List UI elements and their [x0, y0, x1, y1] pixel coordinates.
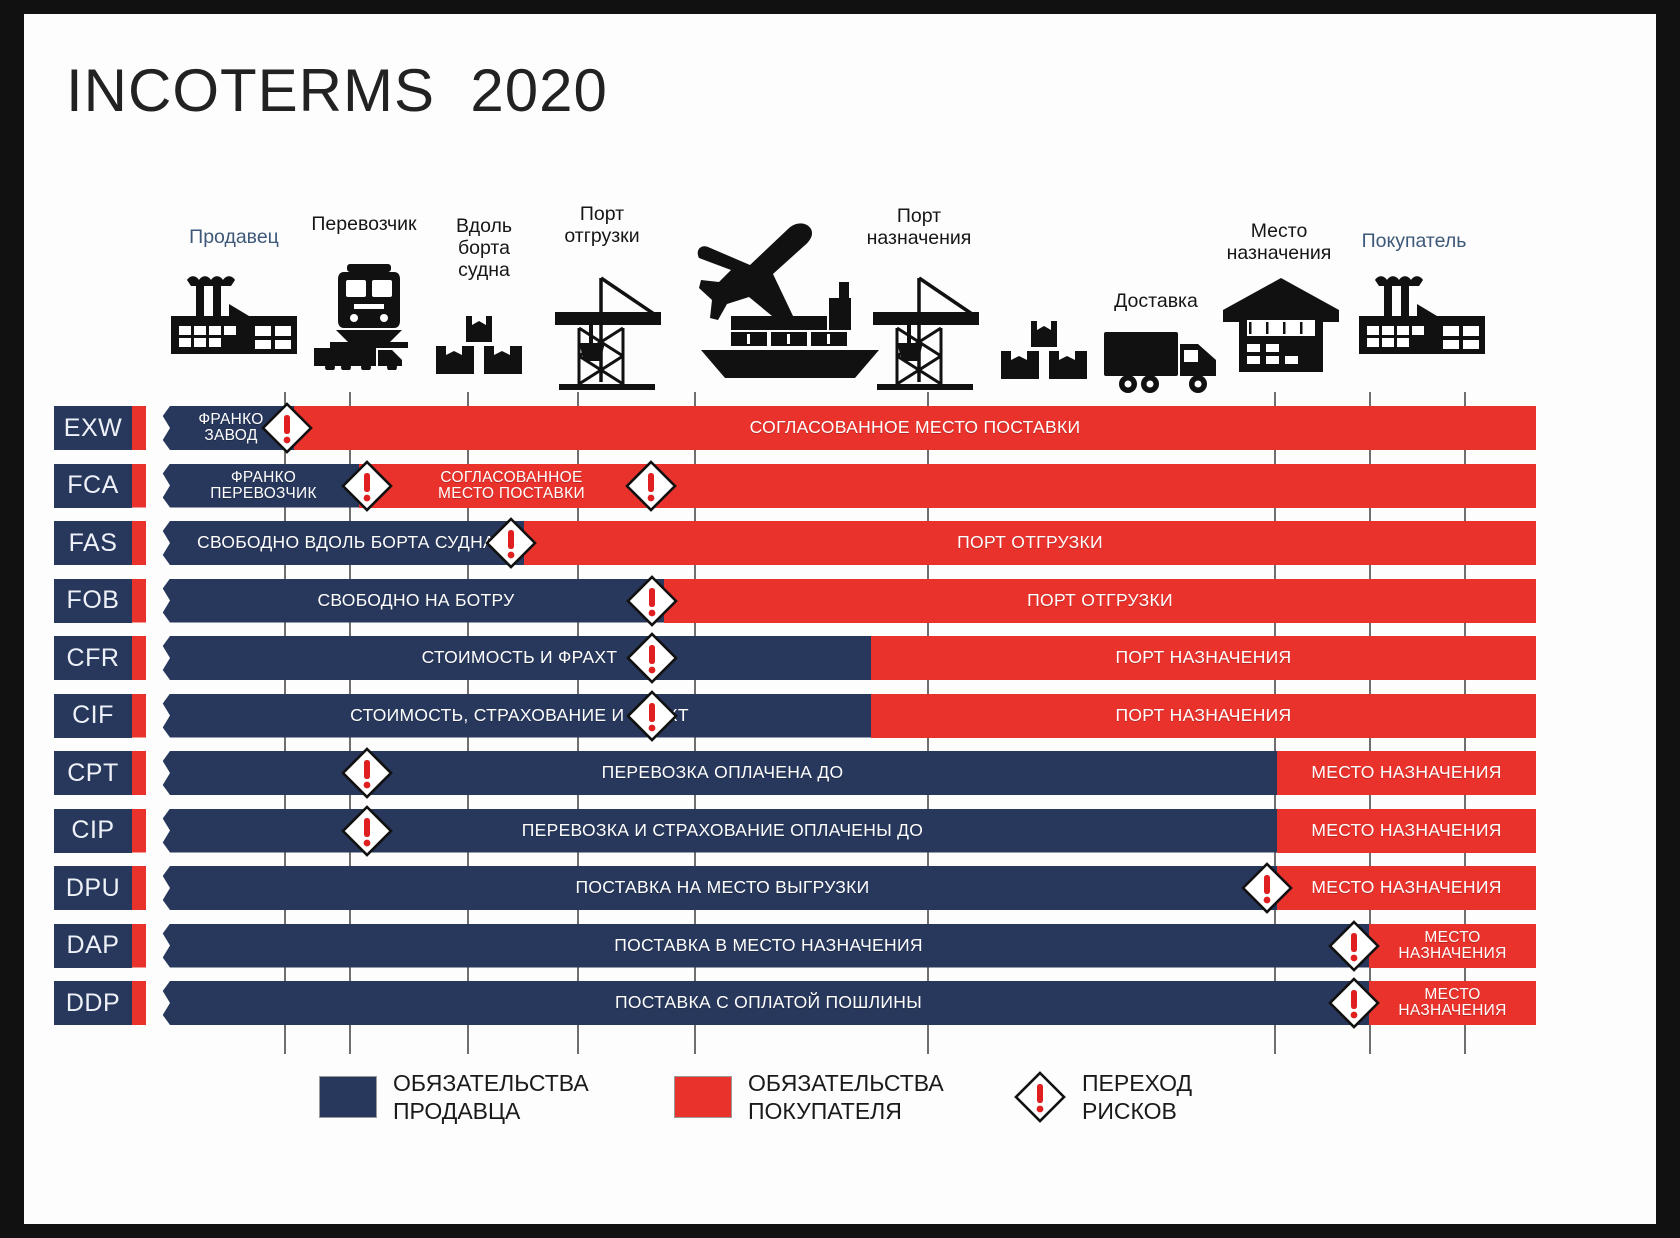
risk-transfer-icon	[1328, 920, 1380, 972]
segment-label: СОГЛАСОВАННОЕ МЕСТО ПОСТАВКИ	[438, 470, 585, 502]
segment-fob-seller-0: СВОБОДНО НА БОТРУ	[154, 579, 664, 623]
segment-exw-buyer-1: СОГЛАСОВАННОЕ МЕСТО ПОСТАВКИ	[294, 406, 1536, 450]
risk-transfer-icon	[1241, 862, 1293, 914]
segment-fca-buyer-1: СОГЛАСОВАННОЕ МЕСТО ПОСТАВКИ	[359, 464, 664, 508]
segment-label: ФРАНКО ЗАВОД	[198, 412, 263, 444]
risk-transfer-icon	[626, 690, 678, 742]
incoterm-row-fca[interactable]: ФРАНКО ПЕРЕВОЗЧИКСОГЛАСОВАННОЕ МЕСТО ПОС…	[24, 464, 1624, 508]
incoterm-code-fas[interactable]: FAS	[54, 521, 132, 565]
segment-label: МЕСТО НАЗНАЧЕНИЯ	[1311, 822, 1501, 840]
icon-strip-label-5: Порт назначения	[809, 206, 1029, 250]
risk-transfer-icon	[261, 402, 313, 454]
incoterm-code-cip[interactable]: CIP	[54, 809, 132, 853]
segment-fas-buyer-1: ПОРТ ОТГРУЗКИ	[524, 521, 1536, 565]
incoterm-row-fob[interactable]: СВОБОДНО НА БОТРУПОРТ ОТГРУЗКИFOB	[24, 579, 1624, 623]
segment-cip-seller-0: ПЕРЕВОЗКА И СТРАХОВАНИЕ ОПЛАЧЕНЫ ДО	[154, 809, 1277, 853]
segment-label: ПОРТ НАЗНАЧЕНИЯ	[1116, 707, 1292, 725]
risk-transfer-icon	[485, 517, 537, 569]
incoterm-code-fob[interactable]: FOB	[54, 579, 132, 623]
segment-label: ПОСТАВКА С ОПЛАТОЙ ПОШЛИНЫ	[615, 994, 922, 1012]
legend-label: ОБЯЗАТЕЛЬСТВА ПОКУПАТЕЛЯ	[748, 1069, 944, 1125]
risk-transfer-icon	[1328, 977, 1380, 1029]
segment-label: МЕСТО НАЗНАЧЕНИЯ	[1398, 930, 1506, 962]
segment-fas-seller-0: СВОБОДНО ВДОЛЬ БОРТА СУДНА	[154, 521, 524, 565]
segment-cfr-seller-0: СТОИМОСТЬ И ФРАХТ	[154, 636, 871, 680]
segment-label: ПОРТ ОТГРУЗКИ	[957, 534, 1103, 552]
cargo-boxes-icon	[434, 314, 524, 376]
segment-fca-buyer-2	[664, 464, 1536, 508]
incoterm-code-cpt[interactable]: CPT	[54, 751, 132, 795]
risk-transfer-icon	[1014, 1071, 1066, 1123]
warehouse-icon	[1219, 276, 1343, 374]
segment-cpt-seller-0: ПЕРЕВОЗКА ОПЛАЧЕНА ДО	[154, 751, 1277, 795]
segment-label: МЕСТО НАЗНАЧЕНИЯ	[1311, 764, 1501, 782]
segment-label: СТОИМОСТЬ И ФРАХТ	[422, 649, 618, 667]
segment-fca-seller-0: ФРАНКО ПЕРЕВОЗЧИК	[154, 464, 359, 508]
incoterm-code-fca[interactable]: FCA	[54, 464, 132, 508]
risk-transfer-icon	[341, 747, 393, 799]
port-crane-icon	[549, 272, 664, 390]
legend-swatch-red	[674, 1076, 732, 1118]
cargo-boxes-icon	[999, 319, 1089, 381]
delivery-truck-icon	[1102, 322, 1220, 394]
segment-ddp-seller-0: ПОСТАВКА С ОПЛАТОЙ ПОШЛИНЫ	[154, 981, 1369, 1025]
incoterm-row-cfr[interactable]: СТОИМОСТЬ И ФРАХТПОРТ НАЗНАЧЕНИЯCFR	[24, 636, 1624, 680]
incoterm-row-cif[interactable]: СТОИМОСТЬ, СТРАХОВАНИЕ И ФРАХТПОРТ НАЗНА…	[24, 694, 1624, 738]
incoterm-row-ddp[interactable]: ПОСТАВКА С ОПЛАТОЙ ПОШЛИНЫМЕСТО НАЗНАЧЕН…	[24, 981, 1624, 1025]
legend-label: ПЕРЕХОД РИСКОВ	[1082, 1069, 1192, 1125]
segment-fob-buyer-1: ПОРТ ОТГРУЗКИ	[664, 579, 1536, 623]
incoterm-row-fas[interactable]: СВОБОДНО ВДОЛЬ БОРТА СУДНАПОРТ ОТГРУЗКИF…	[24, 521, 1624, 565]
segment-label: СВОБОДНО ВДОЛЬ БОРТА СУДНА	[197, 534, 495, 552]
legend-item-0: ОБЯЗАТЕЛЬСТВА ПРОДАВЦА	[319, 1069, 589, 1125]
legend-label: ОБЯЗАТЕЛЬСТВА ПРОДАВЦА	[393, 1069, 589, 1125]
legend-swatch-navy	[319, 1076, 377, 1118]
segment-ddp-buyer-1: МЕСТО НАЗНАЧЕНИЯ	[1369, 981, 1536, 1025]
segment-label: ПОРТ НАЗНАЧЕНИЯ	[1116, 649, 1292, 667]
incoterm-code-cfr[interactable]: CFR	[54, 636, 132, 680]
incoterm-row-dpu[interactable]: ПОСТАВКА НА МЕСТО ВЫГРУЗКИМЕСТО НАЗНАЧЕН…	[24, 866, 1624, 910]
incoterm-row-cip[interactable]: ПЕРЕВОЗКА И СТРАХОВАНИЕ ОПЛАЧЕНЫ ДОМЕСТО…	[24, 809, 1624, 853]
segment-cfr-buyer-1: ПОРТ НАЗНАЧЕНИЯ	[871, 636, 1536, 680]
segment-dap-buyer-1: МЕСТО НАЗНАЧЕНИЯ	[1369, 924, 1536, 968]
segment-label: СВОБОДНО НА БОТРУ	[317, 592, 514, 610]
segment-label: ПОСТАВКА НА МЕСТО ВЫГРУЗКИ	[575, 879, 869, 897]
risk-transfer-icon	[341, 805, 393, 857]
segment-label: ПОСТАВКА В МЕСТО НАЗНАЧЕНИЯ	[614, 937, 923, 955]
segment-label: ПОРТ ОТГРУЗКИ	[1027, 592, 1173, 610]
incoterm-row-cpt[interactable]: ПЕРЕВОЗКА ОПЛАЧЕНА ДОМЕСТО НАЗНАЧЕНИЯCPT	[24, 751, 1624, 795]
risk-transfer-icon	[625, 460, 677, 512]
incoterm-code-dap[interactable]: DAP	[54, 924, 132, 968]
segment-label: ПЕРЕВОЗКА И СТРАХОВАНИЕ ОПЛАЧЕНЫ ДО	[522, 822, 923, 840]
legend-item-1: ОБЯЗАТЕЛЬСТВА ПОКУПАТЕЛЯ	[674, 1069, 944, 1125]
incoterm-row-dap[interactable]: ПОСТАВКА В МЕСТО НАЗНАЧЕНИЯМЕСТО НАЗНАЧЕ…	[24, 924, 1624, 968]
incoterm-code-ddp[interactable]: DDP	[54, 981, 132, 1025]
port-crane-icon	[867, 272, 982, 390]
incoterm-row-exw[interactable]: ФРАНКО ЗАВОДСОГЛАСОВАННОЕ МЕСТО ПОСТАВКИ…	[24, 406, 1624, 450]
incoterm-code-dpu[interactable]: DPU	[54, 866, 132, 910]
segment-label: ПЕРЕВОЗКА ОПЛАЧЕНА ДО	[602, 764, 844, 782]
segment-label: МЕСТО НАЗНАЧЕНИЯ	[1398, 987, 1506, 1019]
infographic-sheet: INCOTERMS 2020 Продавец Перевозчик	[24, 14, 1656, 1224]
segment-dpu-buyer-1: МЕСТО НАЗНАЧЕНИЯ	[1277, 866, 1536, 910]
legend-item-2: ПЕРЕХОД РИСКОВ	[1014, 1069, 1192, 1125]
segment-label: СОГЛАСОВАННОЕ МЕСТО ПОСТАВКИ	[750, 419, 1081, 437]
segment-label: ФРАНКО ПЕРЕВОЗЧИК	[210, 470, 317, 502]
page-title: INCOTERMS 2020	[66, 56, 608, 125]
factory-icon	[1357, 266, 1487, 356]
segment-label: МЕСТО НАЗНАЧЕНИЯ	[1311, 879, 1501, 897]
infographic-frame: INCOTERMS 2020 Продавец Перевозчик	[0, 0, 1680, 1238]
segment-cip-buyer-1: МЕСТО НАЗНАЧЕНИЯ	[1277, 809, 1536, 853]
icon-strip-label-9: Покупатель	[1304, 231, 1524, 253]
risk-transfer-icon	[341, 460, 393, 512]
risk-transfer-icon	[626, 632, 678, 684]
risk-transfer-icon	[626, 575, 678, 627]
incoterm-code-cif[interactable]: CIF	[54, 694, 132, 738]
segment-cif-seller-0: СТОИМОСТЬ, СТРАХОВАНИЕ И ФРАХТ	[154, 694, 871, 738]
incoterm-code-exw[interactable]: EXW	[54, 406, 132, 450]
segment-dpu-seller-0: ПОСТАВКА НА МЕСТО ВЫГРУЗКИ	[154, 866, 1277, 910]
segment-cif-buyer-1: ПОРТ НАЗНАЧЕНИЯ	[871, 694, 1536, 738]
segment-cpt-buyer-1: МЕСТО НАЗНАЧЕНИЯ	[1277, 751, 1536, 795]
factory-icon	[169, 266, 299, 356]
segment-dap-seller-0: ПОСТАВКА В МЕСТО НАЗНАЧЕНИЯ	[154, 924, 1369, 968]
